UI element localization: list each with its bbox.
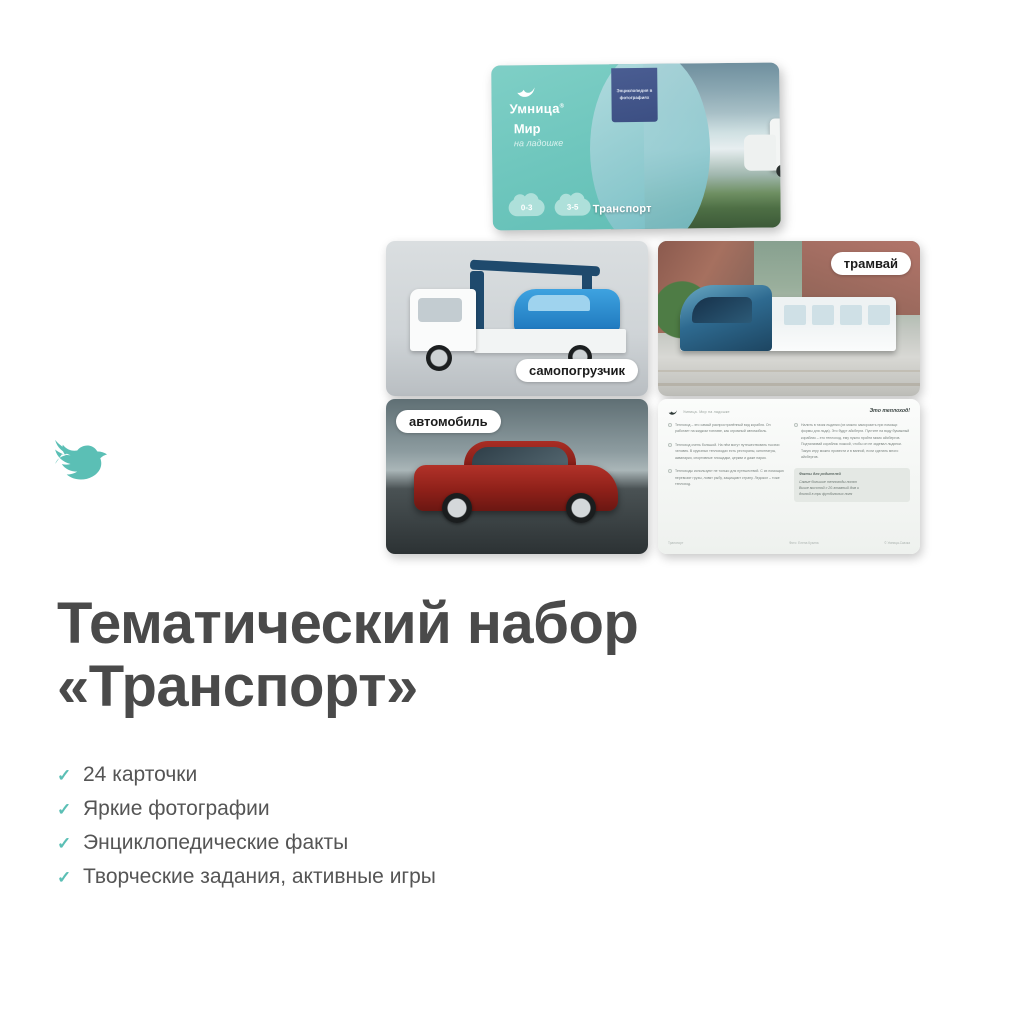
feature-label: Энциклопедические факты: [83, 831, 348, 855]
truck-cab-shape: [410, 289, 476, 351]
card-label-tow-truck: самопогрузчик: [516, 359, 638, 382]
parent-facts-line: длиной в три футбольных поля: [799, 491, 905, 497]
tram-window-shape: [840, 305, 862, 325]
page-title-line2: «Транспорт»: [57, 654, 418, 719]
encyclopedia-tag: Энциклопедия в фотографиях: [611, 68, 658, 122]
check-icon: ✓: [57, 767, 83, 784]
info-paragraph-text: Налить в тазик льдинки (их можно замороз…: [801, 422, 910, 461]
brand-name: Умница®: [510, 101, 565, 117]
info-card-brand: Умница. Мир на ладошке: [683, 410, 730, 414]
bird-icon: [52, 438, 114, 488]
parent-facts-box: Факты для родителей Самые большие теплох…: [794, 468, 910, 502]
card-label-automobile: автомобиль: [396, 410, 501, 433]
blue-car-shape: [514, 289, 620, 331]
encyclopedia-tag-label: Энциклопедия в фотографиях: [615, 88, 653, 102]
rail-line-shape: [658, 383, 920, 386]
footer-photo-credit: Фото: Елена Кузина: [789, 541, 819, 545]
feature-label: 24 карточки: [83, 763, 197, 787]
info-paragraph-text: Теплоходы используют не только для путеш…: [675, 468, 784, 487]
wheel-shape: [566, 493, 596, 523]
check-icon: ✓: [57, 801, 83, 818]
bird-icon: [668, 408, 679, 416]
feature-label: Творческие задания, активные игры: [83, 865, 436, 889]
card-info-text: Умница. Мир на ладошке Это теплоход! Теп…: [658, 399, 920, 554]
wheel-shape: [426, 345, 452, 371]
feature-item-activities: ✓ Творческие задания, активные игры: [57, 860, 436, 894]
page-title: Тематический набор «Транспорт»: [57, 592, 817, 718]
trademark-symbol: ®: [560, 103, 565, 109]
info-card-title: Это теплоход!: [869, 408, 910, 414]
series-title-line2: на ладошке: [514, 138, 563, 149]
info-card-header: Умница. Мир на ладошке Это теплоход!: [668, 408, 910, 416]
footer-theme: Транспорт: [668, 541, 683, 545]
rail-line-shape: [658, 370, 920, 372]
age-badge-label: 3-5: [567, 203, 579, 212]
car-window-shape: [472, 447, 568, 467]
bullet-dot-icon: [668, 443, 672, 447]
card-automobile: автомобиль: [386, 399, 648, 554]
age-badge-3-5: 3-5: [555, 198, 591, 215]
crane-arm-shape: [470, 260, 600, 277]
info-card-right-column: Налить в тазик льдинки (их можно замороз…: [794, 422, 910, 502]
tram-window-shape: [812, 305, 834, 325]
feature-item-cards-count: ✓ 24 карточки: [57, 758, 436, 792]
check-icon: ✓: [57, 869, 83, 886]
product-photo-collage: Умница® Мир на ладошке 0-3 3-5 Энциклопе…: [0, 0, 1024, 575]
info-paragraph: Налить в тазик льдинки (их можно замороз…: [794, 422, 910, 461]
feature-label: Яркие фотографии: [83, 797, 270, 821]
bullet-dot-icon: [794, 423, 798, 427]
bullet-dot-icon: [668, 423, 672, 427]
parent-facts-heading: Факты для родителей: [799, 472, 905, 476]
tram-windshield-shape: [692, 297, 752, 323]
footer-copyright: © Умница-Сказка: [884, 541, 910, 545]
page-title-line1: Тематический набор: [57, 591, 638, 656]
feature-item-facts: ✓ Энциклопедические факты: [57, 826, 436, 860]
info-paragraph: Теплоходы используют не только для путеш…: [668, 468, 784, 487]
wheel-shape: [442, 493, 472, 523]
card-label-tram: трамвай: [831, 252, 911, 275]
info-paragraph: Теплоход очень большой. На нём могут пут…: [668, 442, 784, 461]
series-title-line1: Мир: [514, 121, 541, 136]
wheel-shape: [776, 164, 781, 177]
feature-list: ✓ 24 карточки ✓ Яркие фотографии ✓ Энцик…: [57, 758, 436, 894]
age-badge-0-3: 0-3: [509, 199, 545, 216]
info-paragraph-text: Теплоход – это самый распространённый ви…: [675, 422, 784, 435]
card-tow-truck: самопогрузчик: [386, 241, 648, 396]
tram-window-shape: [784, 305, 806, 325]
feature-item-photos: ✓ Яркие фотографии: [57, 792, 436, 826]
age-badge-group: 0-3 3-5: [509, 198, 591, 216]
info-paragraph-text: Теплоход очень большой. На нём могут пут…: [675, 442, 784, 461]
truck-bed-shape: [474, 329, 626, 353]
age-badge-label: 0-3: [521, 203, 533, 212]
bullet-dot-icon: [668, 469, 672, 473]
product-box-package: Умница® Мир на ладошке 0-3 3-5 Энциклопе…: [491, 62, 781, 230]
check-icon: ✓: [57, 835, 83, 852]
box-theme-label: Транспорт: [593, 203, 652, 216]
bird-icon: [515, 83, 539, 99]
card-tram: трамвай: [658, 241, 920, 396]
info-paragraph: Теплоход – это самый распространённый ви…: [668, 422, 784, 435]
info-card-left-column: Теплоход – это самый распространённый ви…: [668, 422, 784, 502]
camper-van-shape: [770, 118, 781, 171]
tram-window-shape: [868, 305, 890, 325]
